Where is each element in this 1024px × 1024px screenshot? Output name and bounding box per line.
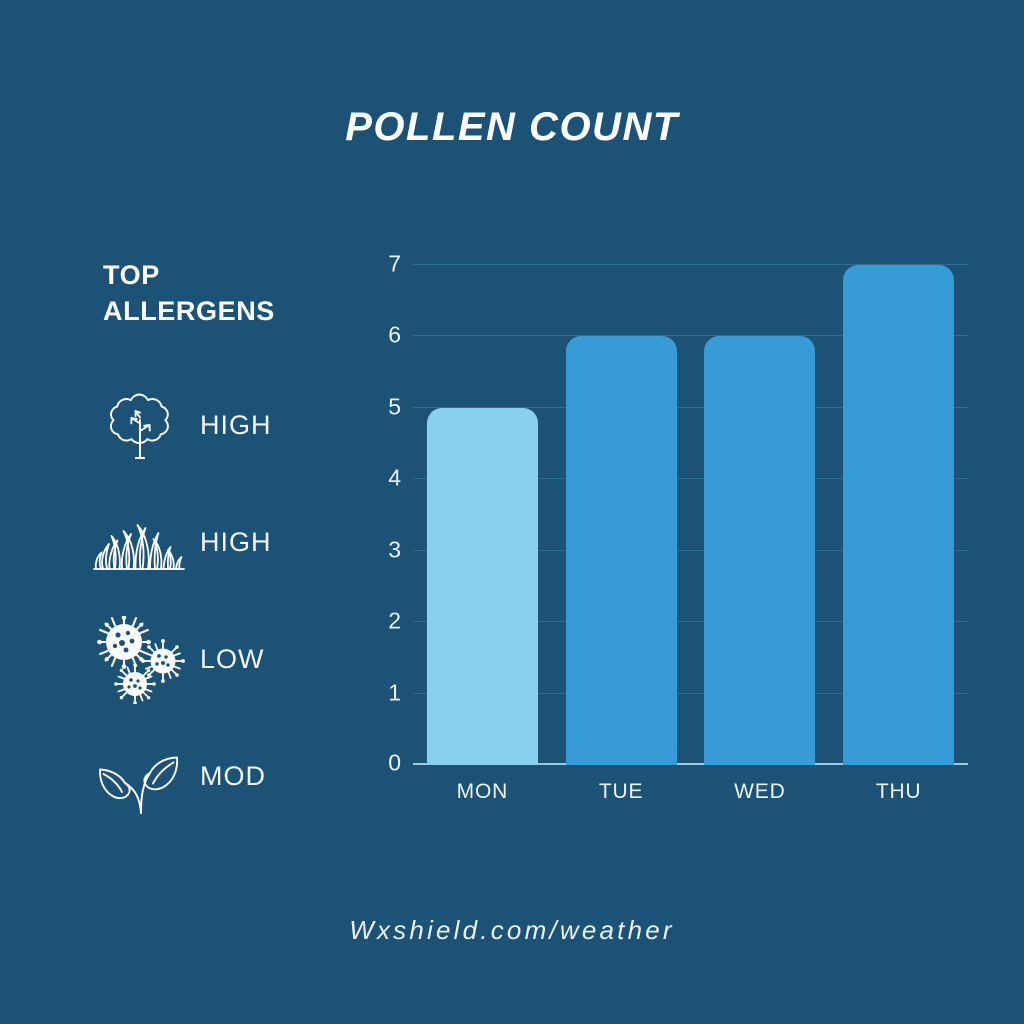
allergen-row-weed: MOD — [86, 718, 336, 835]
grass-icon — [86, 497, 194, 589]
x-axis-label-thu: THU — [829, 768, 968, 812]
y-axis-tick-label: 6 — [388, 322, 401, 349]
allergen-level-weed: MOD — [200, 761, 266, 792]
bars-layer — [413, 265, 968, 765]
x-axis-label-tue: TUE — [552, 768, 691, 812]
bar-wed[interactable] — [704, 336, 815, 765]
sidebar-heading-line2: ALLERGENS — [103, 294, 336, 330]
allergen-row-ragweed: LOW — [86, 601, 336, 718]
y-axis-tick-label: 1 — [388, 679, 401, 706]
y-axis-tick-label: 2 — [388, 608, 401, 635]
allergen-row-tree: HIGH — [86, 367, 336, 484]
allergen-level-ragweed: LOW — [200, 644, 265, 675]
allergen-list: HIGH — [86, 367, 336, 835]
y-axis-tick-label: 3 — [388, 536, 401, 563]
y-axis-tick-label: 0 — [388, 750, 401, 777]
bar-mon[interactable] — [427, 408, 538, 765]
tree-icon — [86, 380, 194, 472]
bar-slot — [413, 265, 552, 765]
bar-tue[interactable] — [566, 336, 677, 765]
bar-thu[interactable] — [843, 265, 954, 765]
allergen-level-grass: HIGH — [200, 527, 272, 558]
bar-slot — [691, 265, 830, 765]
bar-slot — [829, 265, 968, 765]
sidebar-heading-line1: TOP — [103, 258, 336, 294]
weed-icon — [86, 731, 194, 823]
y-axis-tick-label: 5 — [388, 393, 401, 420]
footer-url: Wxshield.com/weather — [0, 915, 1024, 946]
y-axis-tick-label: 4 — [388, 465, 401, 492]
allergen-level-tree: HIGH — [200, 410, 272, 441]
y-axis-tick-label: 7 — [388, 251, 401, 278]
pollen-count-bar-chart: 01234567 MONTUEWEDTHU — [378, 252, 968, 812]
x-axis-labels: MONTUEWEDTHU — [413, 768, 968, 812]
x-axis-label-mon: MON — [413, 768, 552, 812]
x-axis-label-wed: WED — [691, 768, 830, 812]
allergen-row-grass: HIGH — [86, 484, 336, 601]
sidebar-heading: TOP ALLERGENS — [103, 258, 336, 329]
top-allergens-panel: TOP ALLERGENS — [86, 258, 336, 835]
spore-icon — [86, 614, 194, 706]
bar-slot — [552, 265, 691, 765]
plot-area: 01234567 — [413, 265, 968, 765]
page-title: POLLEN COUNT — [0, 105, 1024, 150]
poster-canvas: POLLEN COUNT TOP ALLERGENS — [0, 0, 1024, 1024]
